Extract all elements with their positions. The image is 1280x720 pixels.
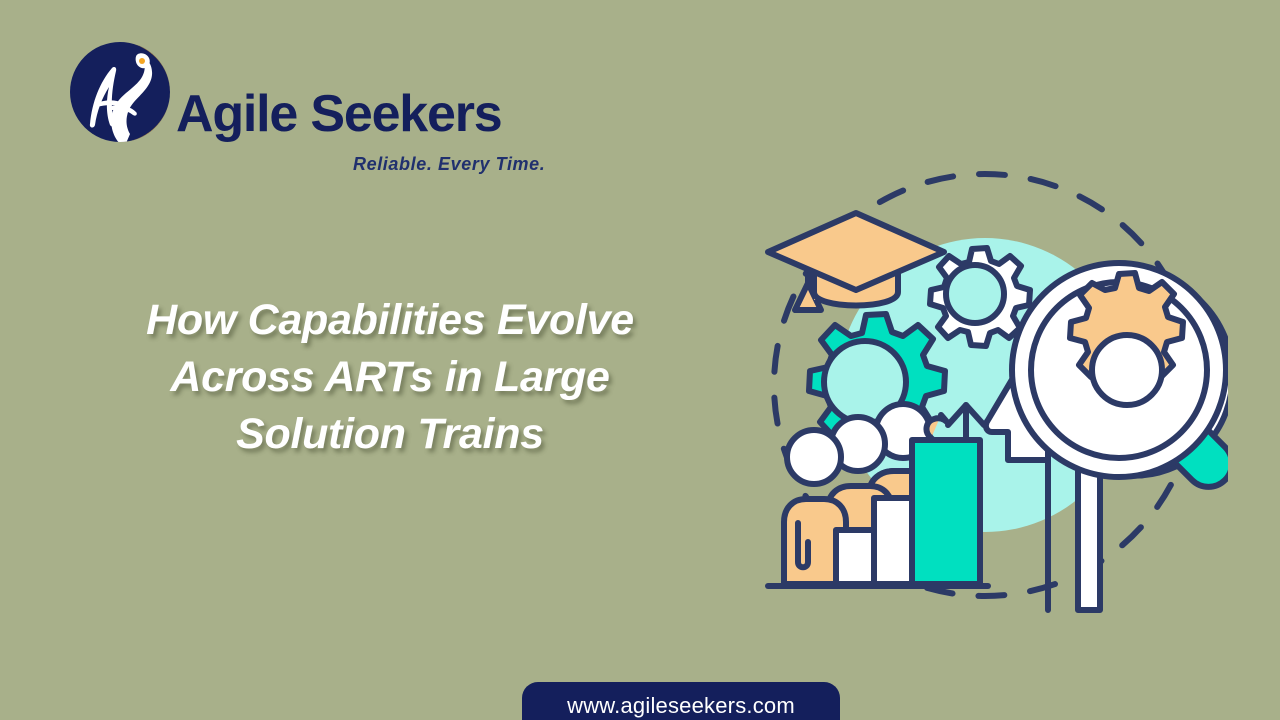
blog-banner: Agile Seekers Reliable. Every Time. How … [0, 0, 1280, 720]
agile-seekers-monogram-icon [68, 40, 172, 144]
brand-name: Agile Seekers [176, 88, 502, 140]
page-title: How Capabilities Evolve Across ARTs in L… [60, 292, 720, 463]
brand-tagline: Reliable. Every Time. [353, 154, 545, 175]
website-url-text: www.agileseekers.com [522, 693, 840, 719]
white-gear-icon [930, 248, 1030, 346]
brand-logo-lockup[interactable]: Agile Seekers Reliable. Every Time. [68, 36, 538, 156]
website-url-badge[interactable]: www.agileseekers.com [522, 682, 840, 720]
bar-3 [912, 440, 980, 584]
capability-growth-illustration [748, 150, 1228, 620]
headline-line-1: How Capabilities Evolve [60, 292, 720, 349]
headline-line-3: Solution Trains [60, 406, 720, 463]
headline-line-2: Across ARTs in Large [60, 349, 720, 406]
